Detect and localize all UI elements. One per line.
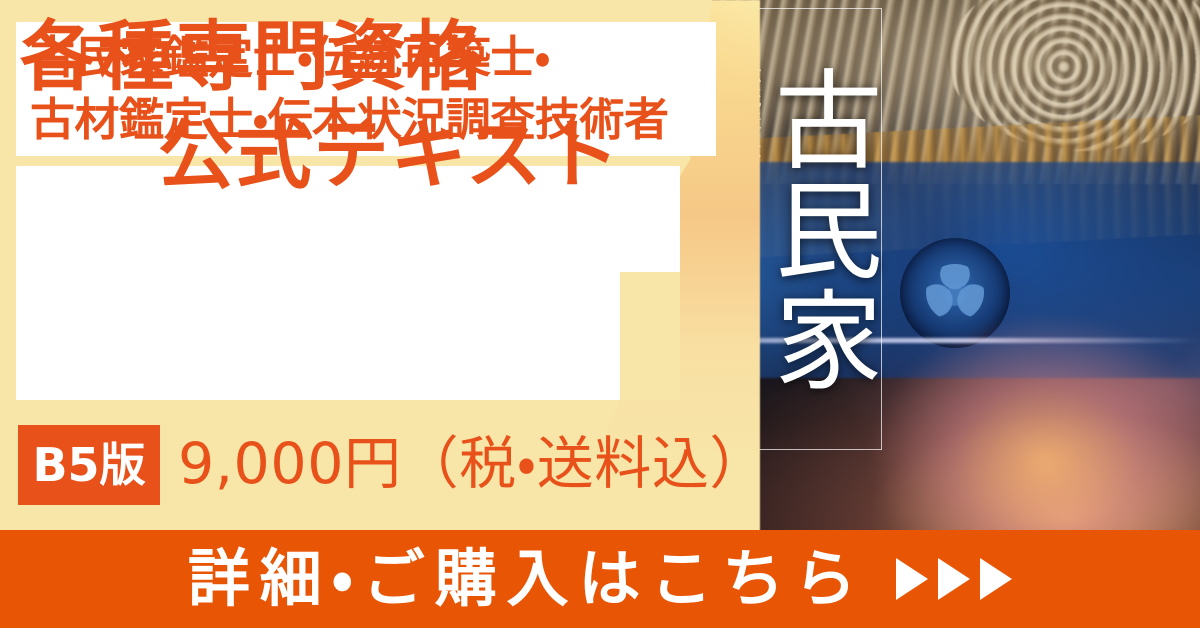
promo-banner: 伝統構法 古民家活用のための調査と再生の 古民家 古民家鑑定士・伝統再築士・ 古…: [0, 0, 1200, 628]
cta-label[interactable]: 詳細・ご購入はこちら: [188, 548, 866, 610]
headline-card: [16, 166, 680, 400]
book-cover-title: 古民家: [749, 64, 887, 394]
cta-bar[interactable]: 詳細・ご購入はこちら: [0, 530, 1200, 628]
price-label: 9,000円（税・送料込）: [178, 424, 767, 504]
cta-arrows[interactable]: [896, 558, 1012, 600]
triangle-right-icon: [896, 558, 928, 600]
triangle-right-icon: [980, 558, 1012, 600]
size-badge-label: B5版: [32, 442, 145, 488]
headline-line-1: 各種専門資格: [20, 14, 485, 99]
size-badge: B5版: [18, 425, 160, 505]
book-cover-title-frame: 古民家: [755, 8, 882, 450]
triangle-right-icon: [938, 558, 970, 600]
headline-line-2: 公式テキスト: [158, 112, 621, 197]
